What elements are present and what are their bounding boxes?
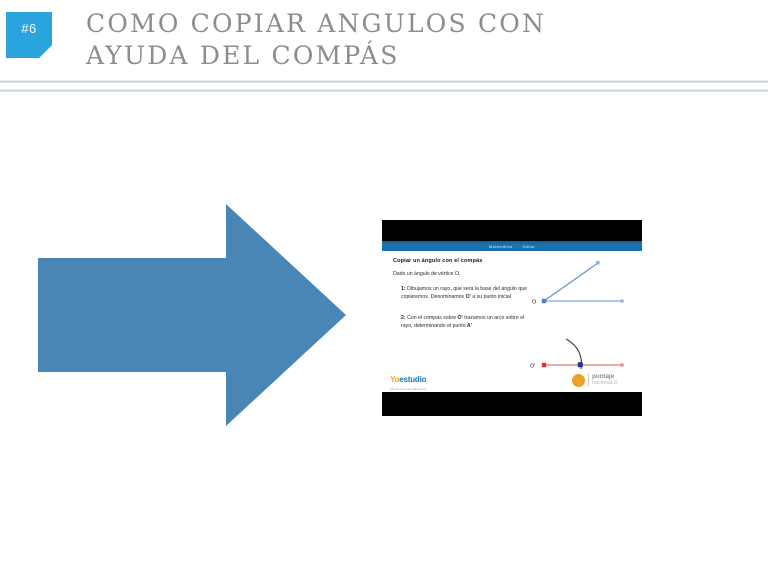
puntajenacional-logo: puntaje nacional.cl	[572, 371, 636, 389]
lesson-topbar: Matemática Editar	[382, 241, 642, 251]
puntaje-divider	[588, 374, 589, 386]
step-2-text-before: Con el compás sobre	[406, 315, 458, 321]
puntaje-mark-icon	[572, 374, 585, 387]
yoestudio-tagline: Sitio de Recursos Educativos	[390, 388, 464, 391]
step-2-bold-term-2: A'	[467, 323, 472, 329]
figure-bottom-vertex-label: O'	[530, 364, 535, 370]
figure-top-vertex-label: O	[532, 300, 536, 306]
slide-header: #6 Como copiar angulos con ayuda del com…	[0, 0, 768, 80]
header-divider-top	[0, 80, 768, 83]
lesson-heading: Copiar un ángulo con el compás	[393, 258, 533, 264]
yoestudio-logo: Yoestudio Sitio de Recursos Educativos	[390, 369, 464, 389]
lesson-subject-label: Matemática	[489, 244, 513, 249]
lesson-slide-thumbnail[interactable]: Matemática Editar Copiar un ángulo con e…	[382, 220, 642, 416]
puntaje-line-2: nacional.cl	[592, 380, 617, 386]
step-1-text-after: a su punto inicial	[471, 294, 511, 300]
lesson-body: Copiar un ángulo con el compás Dado un á…	[382, 251, 642, 392]
letterbox-band-bottom	[382, 392, 642, 416]
yoestudio-word-yo: Yo	[390, 375, 399, 384]
yoestudio-word-estudio: estudio	[399, 375, 426, 384]
header-divider-bottom	[0, 89, 768, 92]
slide-number-badge: #6	[6, 12, 52, 58]
lesson-step-1: 1: Dibujamos un rayo, que será la base d…	[401, 285, 533, 301]
page-title: Como copiar angulos con ayuda del compás	[86, 8, 746, 72]
lesson-intro-text: Dado un ángulo de vértice O.	[393, 271, 533, 277]
right-arrow-icon	[38, 197, 346, 433]
letterbox-band-top	[382, 220, 642, 241]
figure-angle-vertex-o: O	[522, 256, 634, 316]
lesson-step-2: 2: Con el compás sobre O' trazamos un ar…	[401, 314, 533, 330]
lesson-section-label: Editar	[523, 244, 535, 249]
